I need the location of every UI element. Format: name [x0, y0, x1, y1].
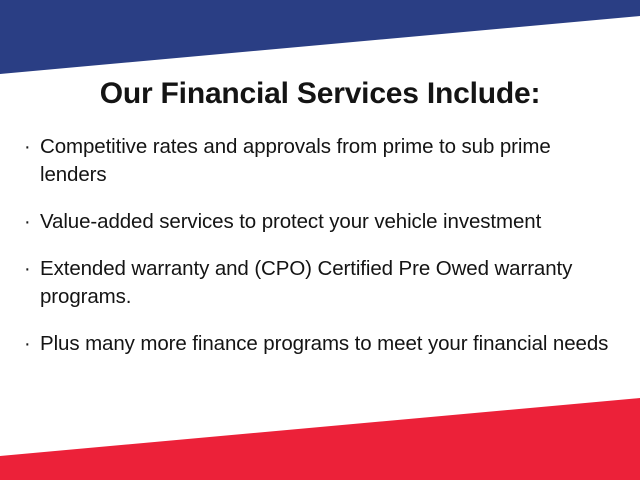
list-item-text: Extended warranty and (CPO) Certified Pr…	[40, 255, 620, 311]
list-item: · Plus many more finance programs to mee…	[22, 330, 620, 358]
list-item-text: Competitive rates and approvals from pri…	[40, 133, 620, 189]
page-title: Our Financial Services Include:	[0, 77, 640, 111]
list-item-text: Plus many more finance programs to meet …	[40, 330, 620, 358]
red-diagonal-banner	[0, 390, 640, 480]
list-item: · Extended warranty and (CPO) Certified …	[22, 255, 620, 311]
bullet-marker-icon: ·	[22, 133, 40, 161]
bullet-list: · Competitive rates and approvals from p…	[22, 133, 620, 358]
list-item: · Value-added services to protect your v…	[22, 208, 620, 236]
bullet-marker-icon: ·	[22, 330, 40, 358]
list-item-text: Value-added services to protect your veh…	[40, 208, 620, 236]
slide-canvas: Our Financial Services Include: · Compet…	[0, 0, 640, 480]
bullet-marker-icon: ·	[22, 208, 40, 236]
list-item: · Competitive rates and approvals from p…	[22, 133, 620, 189]
navy-diagonal-banner	[0, 0, 640, 80]
bullet-marker-icon: ·	[22, 255, 40, 283]
